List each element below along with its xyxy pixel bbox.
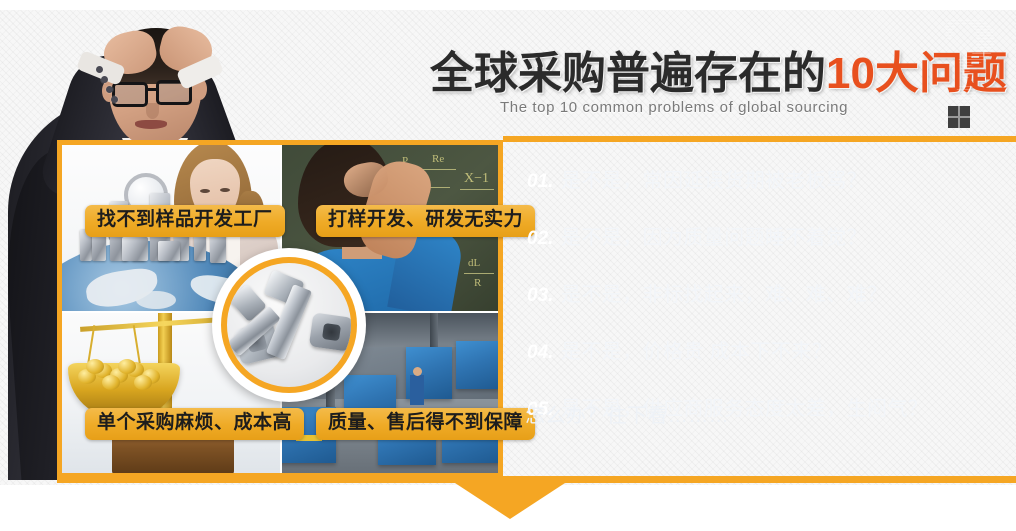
- question-mark-dot: [948, 106, 970, 128]
- gold-nugget: [86, 359, 104, 374]
- bolts-circle-badge: [212, 248, 366, 402]
- factory-worker: [410, 375, 424, 405]
- list-item: 03. 是不是，非标找起来，难、难、难？: [527, 278, 997, 307]
- globe-landmass: [136, 291, 176, 309]
- list-item: 01. 是不是，常因延误货期被老板骂？: [527, 164, 997, 193]
- badge-inner-ring: [221, 257, 357, 393]
- list-item-number: 01.: [527, 171, 561, 193]
- sleeve-button: [96, 66, 103, 73]
- question-mark-icon: ? ?: [944, 22, 1012, 132]
- factory-machine: [456, 341, 498, 389]
- nose: [146, 103, 159, 119]
- list-item-text: 是不是，非标找起来，难、难、难？: [561, 278, 887, 307]
- page-title-main: 全球采购普遍存在的: [430, 45, 826, 103]
- page-title: 全球采购普遍存在的10大问题: [430, 45, 950, 103]
- woman-eye-left: [200, 189, 210, 193]
- gold-nugget: [102, 375, 120, 390]
- metal-part: [122, 237, 148, 261]
- list-item-text: 是不是，价格贵 成本下不来？: [561, 335, 832, 364]
- factory-worker-head: [413, 367, 422, 376]
- woman-eye-right: [220, 188, 230, 192]
- page-subtitle: The top 10 common problems of global sou…: [500, 99, 848, 116]
- list-item: 04. 是不是，价格贵 成本下不来？: [527, 335, 997, 364]
- metal-part: [158, 241, 180, 261]
- chalk-formula: dL: [468, 257, 480, 269]
- list-item-number: 03.: [527, 285, 561, 307]
- chalk-formula: X−1: [464, 171, 489, 187]
- caption-tag-single-purchase-cost: 单个采购麻烦、成本高: [85, 408, 304, 440]
- list-item-number: 02.: [527, 228, 561, 250]
- chalk-formula: Re: [432, 153, 444, 165]
- list-item-number: 04.: [527, 342, 561, 364]
- caption-tag-sample-factory: 找不到样品开发工厂: [85, 205, 285, 237]
- gold-nuggets-group: [76, 359, 172, 389]
- mouth: [135, 120, 167, 129]
- list-item-text: 是不是，因为质量问题睡不着觉？: [561, 221, 867, 250]
- list-item: 02. 是不是，因为质量问题睡不着觉？: [527, 221, 997, 250]
- sleeve-button: [101, 76, 108, 83]
- poster-canvas: 全球采购普遍存在的10大问题 The top 10 common problem…: [0, 0, 1016, 531]
- hex-nut: [309, 312, 353, 351]
- sleeve-button: [111, 96, 118, 103]
- chalk-line: [464, 273, 494, 274]
- list-item-text: 是不是，常因延误货期被老板骂？: [561, 164, 867, 193]
- gold-nugget: [134, 375, 152, 390]
- eyeglass-lens-left: [112, 82, 148, 107]
- chalk-formula: R: [474, 277, 481, 289]
- chalk-line: [460, 189, 494, 190]
- eyeglass-bridge: [147, 88, 158, 91]
- closing-call-to-action: 怎么办？往下看………: [525, 399, 729, 428]
- sleeve-button: [106, 86, 113, 93]
- problem-list-panel: 01. 是不是，常因延误货期被老板骂？ 02. 是不是，因为质量问题睡不着觉？ …: [503, 140, 1016, 478]
- gold-nugget: [118, 359, 136, 374]
- bottom-accent-bar: [57, 476, 1016, 483]
